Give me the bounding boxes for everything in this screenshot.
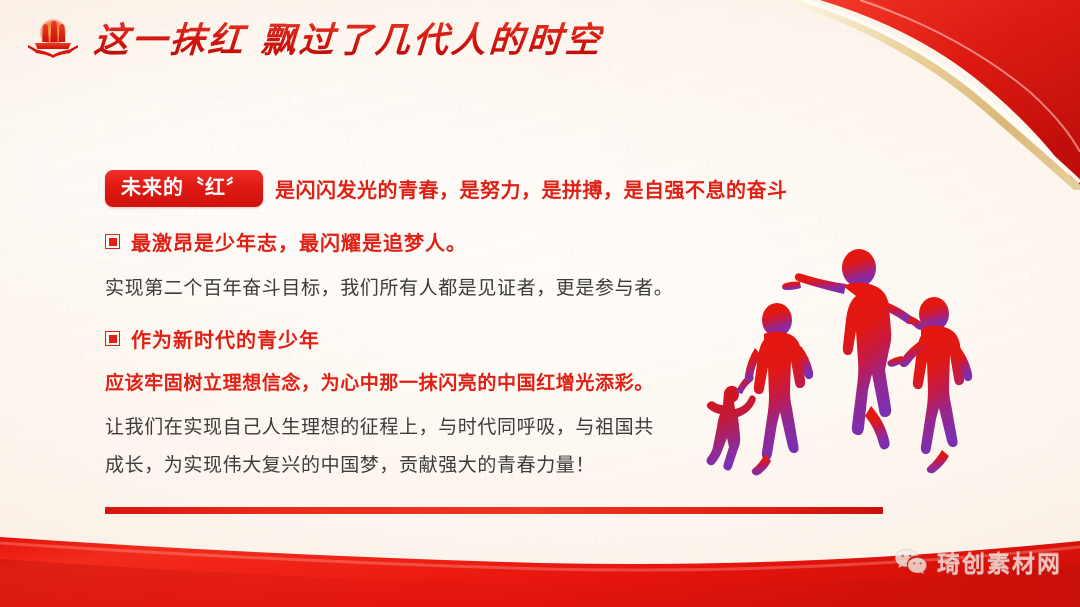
swoosh-gold-stripe [792, 0, 1080, 190]
square-bullet-icon [105, 234, 120, 249]
lead-statement-row: 未来的〝红〞 是闪闪发光的青春，是努力，是拼搏，是自强不息的奋斗 [105, 170, 895, 207]
swoosh-red-shade [872, 0, 1080, 150]
body-paragraph-1: 实现第二个百年奋斗目标，我们所有人都是见证者，更是参与者。 [105, 270, 895, 308]
bullet-item-1-label: 最激昂是少年志，最闪耀是追梦人。 [131, 227, 467, 256]
page-title: 这一抹红 飘过了几代人的时空 [92, 12, 605, 63]
swoosh-highlight-line [860, 0, 1080, 152]
swoosh-red-primary [820, 0, 1080, 190]
bullet-item-2: 作为新时代的青少年 [105, 324, 895, 353]
red-divider-rule [105, 507, 883, 514]
body-paragraph-2: 让我们在实现自己人生理想的征程上，与时代同呼吸，与祖国共 [105, 409, 895, 447]
top-right-swoosh-decoration [520, 0, 1080, 190]
square-bullet-icon [105, 331, 120, 346]
slide-header: 这一抹红 飘过了几代人的时空 [26, 8, 603, 66]
watermark: 琦创素材网 [894, 545, 1062, 579]
swoosh-white-gap [802, 0, 1080, 182]
bullet-item-1: 最激昂是少年志，最闪耀是追梦人。 [105, 227, 895, 256]
tiananmen-sunrise-emblem-icon [26, 14, 80, 60]
silhouette-child-right [887, 297, 972, 473]
body-paragraph-3: 成长，为实现伟大复兴的中国梦，贡献强大的青春力量！ [105, 447, 895, 485]
bullet-item-2-label: 作为新时代的青少年 [131, 324, 320, 353]
emphasis-paragraph: 应该牢固树立理想信念，为心中那一抹闪亮的中国红增光添彩。 [105, 367, 895, 401]
slide-content: 未来的〝红〞 是闪闪发光的青春，是努力，是拼搏，是自强不息的奋斗 最激昂是少年志… [105, 170, 895, 514]
wechat-icon [894, 547, 928, 577]
highlight-badge: 未来的〝红〞 [105, 170, 263, 207]
lead-statement-text: 是闪闪发光的青春，是努力，是拼搏，是自强不息的奋斗 [275, 174, 788, 203]
slide-canvas: 这一抹红 飘过了几代人的时空 [0, 0, 1080, 607]
watermark-label: 琦创素材网 [937, 545, 1062, 579]
